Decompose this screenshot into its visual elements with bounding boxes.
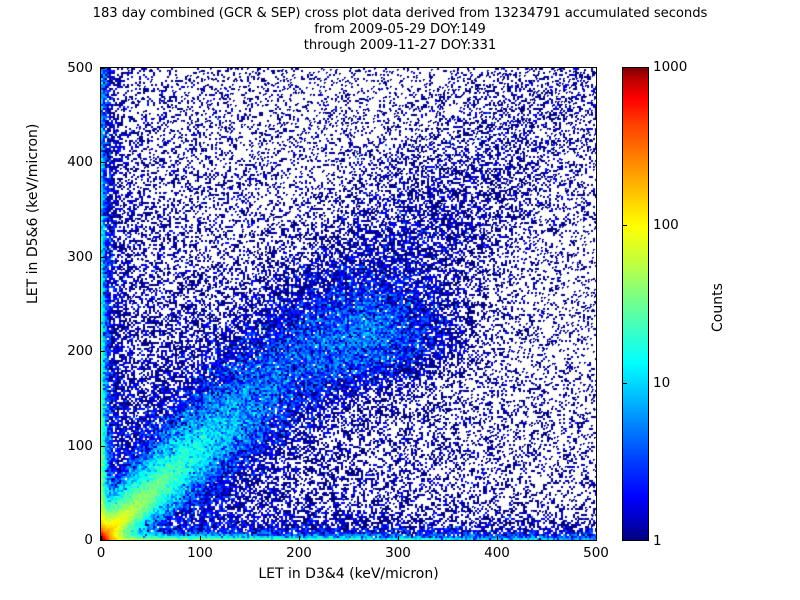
y-tick-label: 300 [48,249,93,265]
x-tick-label: 0 [97,545,106,561]
x-tick-mark [200,536,201,540]
colorbar-tick-label: 100 [653,217,679,233]
x-tick-label: 200 [286,545,312,561]
y-tick-mark [101,162,105,163]
title-line-1: 183 day combined (GCR & SEP) cross plot … [0,6,800,22]
y-tick-label: 0 [48,532,93,548]
y-tick-mark [101,540,105,541]
x-tick-mark [596,536,597,540]
colorbar-label: Counts [710,283,726,332]
y-tick-mark [101,68,105,69]
x-tick-mark [497,536,498,540]
y-tick-mark [101,446,105,447]
y-axis-label: LET in D5&6 (keV/micron) [25,124,41,304]
x-tick-label: 300 [385,545,411,561]
y-tick-label: 200 [48,343,93,359]
x-tick-mark [398,536,399,540]
y-tick-label: 100 [48,438,93,454]
y-tick-mark [101,351,105,352]
x-tick-label: 100 [187,545,213,561]
colorbar-tick-label: 1 [653,533,662,549]
x-tick-label: 500 [583,545,609,561]
x-tick-label: 400 [484,545,510,561]
chart-title: 183 day combined (GCR & SEP) cross plot … [0,6,800,54]
colorbar-tick-label: 1000 [653,59,687,75]
y-tick-label: 500 [48,60,93,76]
title-line-3: through 2009-11-27 DOY:331 [0,38,800,54]
plot-area[interactable] [100,67,597,541]
colorbar-tick-mark [622,383,627,384]
x-axis-label: LET in D3&4 (keV/micron) [100,566,597,582]
colorbar-tick-mark [622,225,627,226]
y-tick-mark [101,257,105,258]
y-tick-label: 400 [48,154,93,170]
figure-canvas: 183 day combined (GCR & SEP) cross plot … [0,0,800,600]
x-tick-mark [299,536,300,540]
heatmap-scatter-layer [101,68,596,540]
title-line-2: from 2009-05-29 DOY:149 [0,22,800,38]
colorbar-gradient[interactable] [622,67,649,541]
colorbar-tick-label: 10 [653,375,670,391]
